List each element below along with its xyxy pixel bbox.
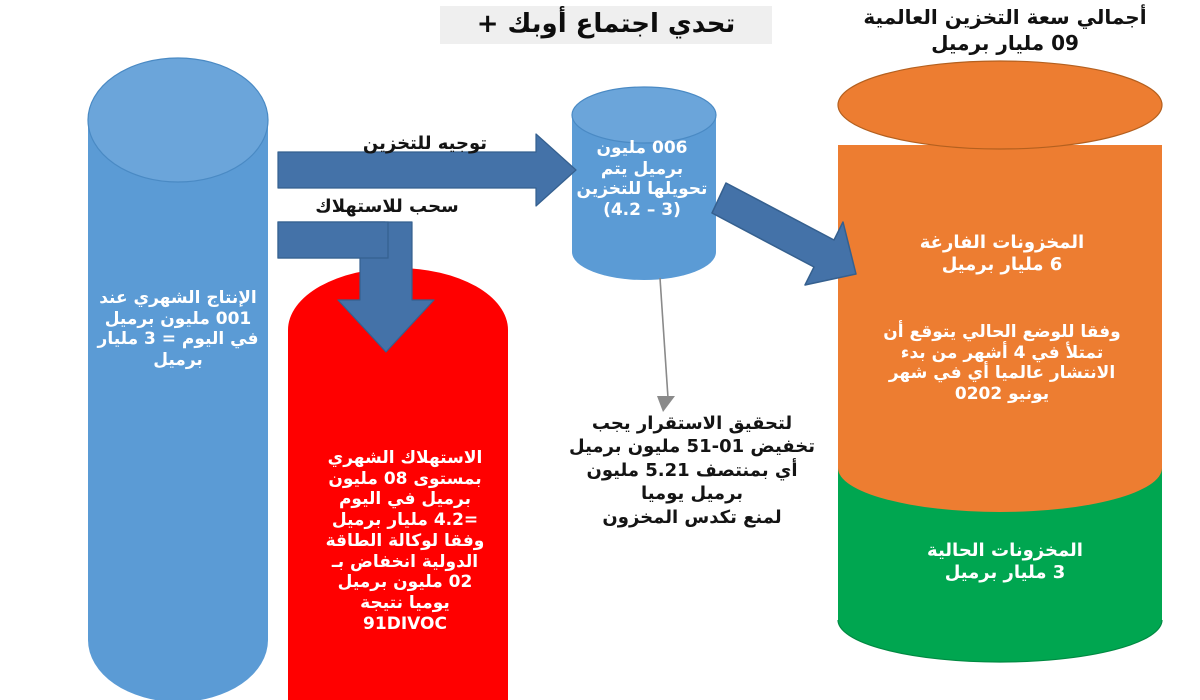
empty-storage-label: المخزونات الفارغة 6 مليار برميل	[852, 232, 1152, 276]
stability-note: لتحقيق الاستقرار يجب تخفيض 10-15 مليون ب…	[558, 412, 826, 529]
arrow-storage-to-global	[712, 183, 856, 285]
storage-fill-forecast-label: وفقا للوضع الحالي يتوقع أن تمتلأ في 4 أش…	[852, 322, 1152, 405]
consumption-cylinder-label: الاستهلاك الشهري بمستوى 80 مليون برميل ف…	[300, 448, 510, 635]
infographic-canvas: تحدي اجتماع أوبك + أجمالي سعة التخزين ال…	[0, 0, 1200, 700]
production-cylinder-shape	[88, 58, 268, 700]
production-cylinder-label: الإنتاج الشهري عند 100 مليون برميل في ال…	[78, 288, 278, 371]
arrow-to-consumption-label: سحب للاستهلاك	[262, 196, 512, 218]
connector-line-storage-note	[657, 278, 675, 412]
arrow-to-storage-label: توجيه للتخزين	[300, 133, 550, 155]
current-storage-label: المخزونات الحالية 3 مليار برميل	[880, 540, 1130, 584]
global-storage-capacity-caption: أجمالي سعة التخزين العالمية 90 مليار برم…	[820, 4, 1190, 56]
page-title: تحدي اجتماع أوبك +	[440, 6, 772, 44]
storage-cylinder-label: 600 مليون برميل يتم تحويلها للتخزين (3 –…	[568, 138, 716, 221]
